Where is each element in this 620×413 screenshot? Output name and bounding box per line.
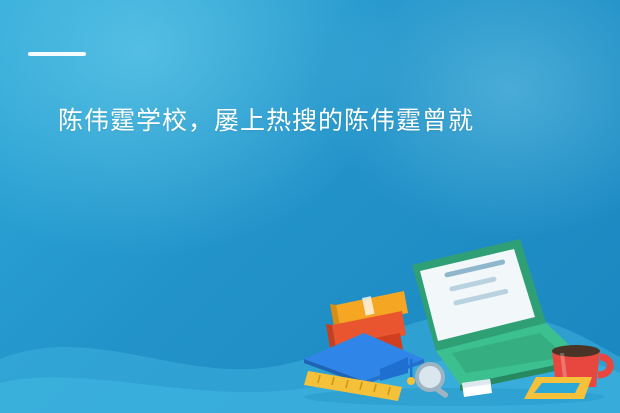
set-square-icon xyxy=(524,377,592,399)
study-desk-illustration xyxy=(284,173,614,413)
page-title: 陈伟霆学校，屡上热搜的陈伟霆曾就 xyxy=(58,102,578,140)
title-underline-rule xyxy=(28,52,86,56)
poster-canvas: 陈伟霆学校，屡上热搜的陈伟霆曾就 xyxy=(0,0,620,413)
